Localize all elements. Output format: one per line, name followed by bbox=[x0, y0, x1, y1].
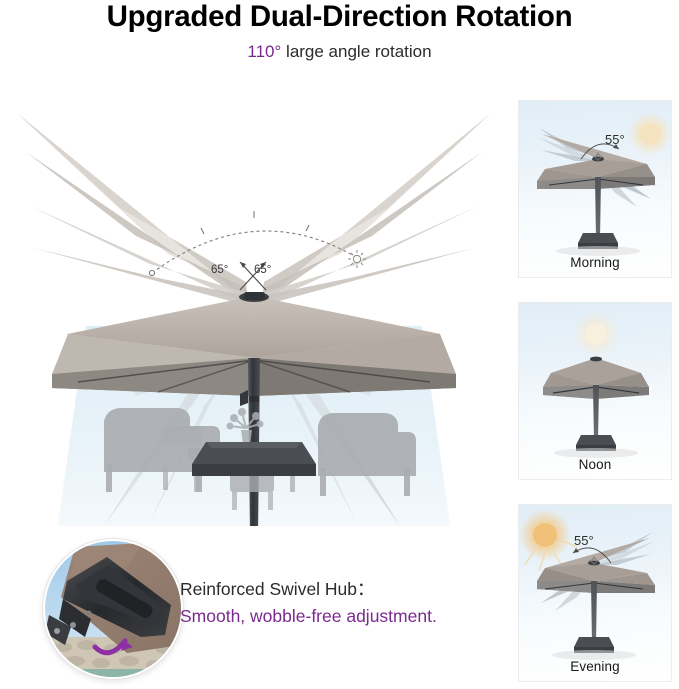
umbrella-pole bbox=[593, 385, 599, 441]
feature-text-block: Reinforced Swivel Hub： Smooth, wobble-fr… bbox=[180, 576, 660, 630]
hero-vector-scene bbox=[8, 96, 500, 526]
umbrella-pole bbox=[595, 177, 601, 239]
noon-scene bbox=[519, 303, 672, 480]
swivel-hub-illustration bbox=[45, 541, 181, 677]
page-title: Upgraded Dual-Direction Rotation bbox=[0, 0, 679, 36]
feature-section: Reinforced Swivel Hub： Smooth, wobble-fr… bbox=[0, 528, 679, 689]
morning-angle-label: 55° bbox=[605, 132, 625, 147]
hero-illustration: 65° 65° bbox=[8, 96, 500, 526]
panel-noon: Noon bbox=[518, 302, 672, 480]
swivel-hub-photo bbox=[43, 539, 183, 679]
subtitle-angle-value: 110° bbox=[247, 42, 281, 61]
rotation-arc-icon bbox=[149, 211, 356, 276]
noon-label: Noon bbox=[519, 457, 671, 472]
sun-icon bbox=[628, 112, 672, 156]
sun-icon bbox=[573, 311, 619, 357]
morning-scene bbox=[519, 101, 672, 278]
morning-label: Morning bbox=[519, 255, 671, 270]
umbrella-base-icon bbox=[192, 442, 316, 476]
hero-angle-right: 65° bbox=[254, 264, 271, 276]
hero-angle-left: 65° bbox=[211, 264, 228, 276]
feature-description: Smooth, wobble-free adjustment. bbox=[180, 603, 660, 630]
subtitle-text: large angle rotation bbox=[281, 42, 431, 61]
panel-morning: 55° Morning bbox=[518, 100, 672, 278]
header: Upgraded Dual-Direction Rotation 110° la… bbox=[0, 0, 679, 92]
page-subtitle: 110° large angle rotation bbox=[0, 40, 679, 64]
feature-heading: Reinforced Swivel Hub： bbox=[180, 576, 660, 603]
